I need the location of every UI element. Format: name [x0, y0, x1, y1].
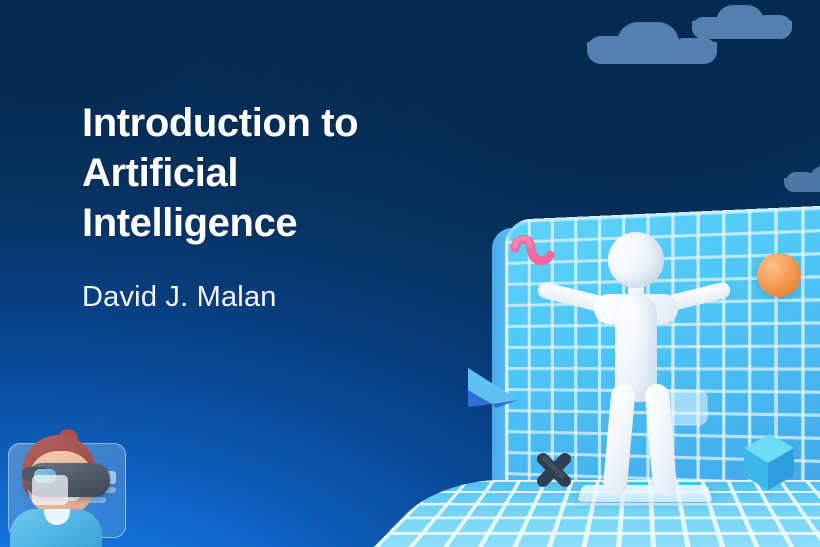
- figure-head: [608, 232, 664, 288]
- presentation-slide: Introduction to Artificial Intelligence …: [0, 0, 820, 547]
- figure-leg-left: [602, 383, 636, 497]
- page-title: Introduction to Artificial Intelligence: [82, 98, 502, 248]
- orange-sphere-icon: [757, 253, 801, 297]
- figure-leg-right: [644, 383, 678, 497]
- author-name: David J. Malan: [82, 280, 502, 314]
- vr-avatar-badge: [0, 429, 128, 547]
- pink-squiggle-icon: [510, 235, 566, 271]
- humanoid-figure: [568, 232, 728, 502]
- cloud-small-icon: [692, 5, 792, 37]
- blue-prism-icon: [462, 360, 528, 418]
- cyan-cube-icon: [730, 428, 800, 498]
- title-block: Introduction to Artificial Intelligence …: [82, 98, 502, 314]
- avatar-ui-panel: [32, 475, 68, 505]
- cloud-large-icon: [587, 22, 717, 62]
